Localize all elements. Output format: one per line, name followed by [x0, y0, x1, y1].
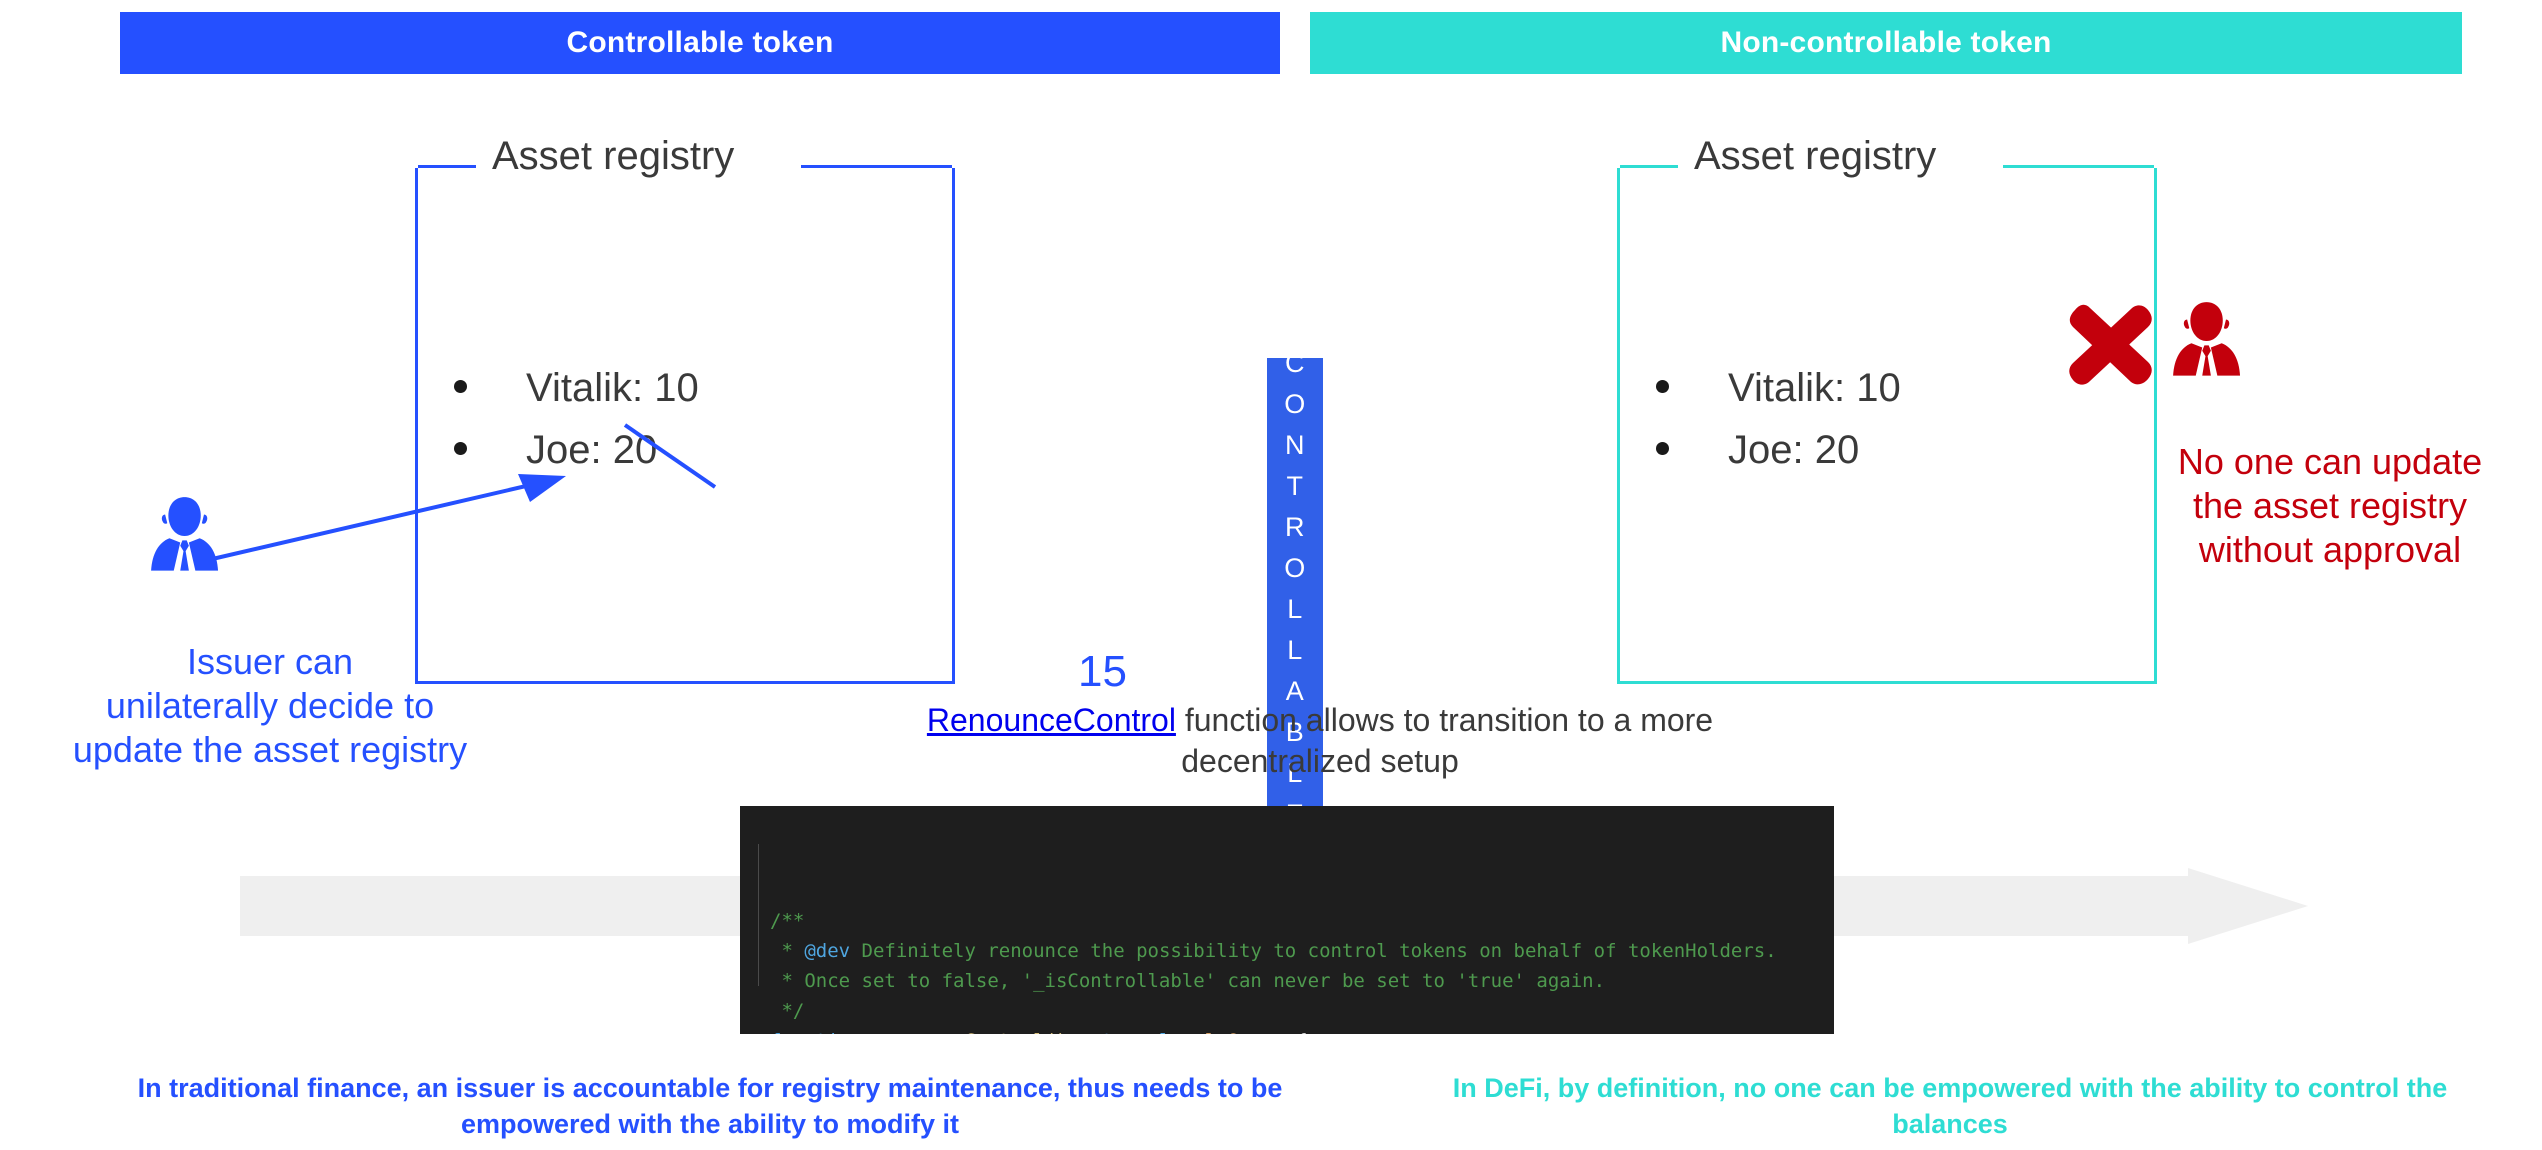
balance-entry-joe: Joe: 20	[1728, 428, 1859, 472]
controllable-letter: N	[1285, 425, 1305, 466]
balance-entry-vitalik: Vitalik: 10	[1728, 366, 1901, 410]
asset-registry-controllable: Asset registry Vitalik: 10 Joe: 20 15 C …	[415, 168, 955, 684]
bullet-icon	[1656, 380, 1669, 393]
code-token	[1067, 1030, 1078, 1034]
asset-registry-non-controllable: Asset registry Vitalik: 10 Joe: 20	[1617, 168, 2157, 684]
controllable-letter: L	[1287, 589, 1303, 630]
rail-segment-left	[1620, 165, 1678, 168]
controllable-letter: L	[1287, 630, 1303, 671]
code-token: function	[770, 1030, 873, 1034]
no-update-note: No one can update the asset registry wit…	[2130, 440, 2530, 572]
code-token: {	[1285, 1030, 1308, 1034]
renounce-control-code-snippet: /** * @dev Definitely renounce the possi…	[740, 806, 1834, 1034]
code-token: /**	[770, 910, 804, 932]
list-item: Vitalik: 10	[1648, 368, 1901, 408]
code-token	[1170, 1030, 1181, 1034]
registry-legend-left: Asset registry	[492, 136, 734, 176]
code-line: * Once set to false, '_isControllable' c…	[758, 966, 1834, 996]
banner-controllable-label: Controllable token	[567, 26, 834, 60]
code-token: @dev	[804, 940, 850, 962]
footer-note-tradfi: In traditional finance, an issuer is acc…	[120, 1070, 1300, 1142]
code-line: function renounceControl() external only…	[758, 1026, 1834, 1034]
rail-segment-right	[801, 165, 952, 168]
issuer-person-icon	[151, 497, 218, 570]
code-token: *	[770, 940, 804, 962]
controllable-letter: T	[1287, 466, 1304, 507]
blocked-person-icon	[2173, 302, 2240, 375]
list-item: Joe: 20	[1648, 430, 1901, 470]
code-line: /**	[758, 906, 1834, 936]
issuer-capability-note: Issuer can unilaterally decide to update…	[10, 640, 530, 772]
banner-controllable-token: Controllable token	[120, 12, 1280, 74]
code-token: * Once set to false, '_isControllable' c…	[770, 970, 1605, 992]
code-token: Definitely renounce the possibility to c…	[850, 940, 1777, 962]
bullet-icon	[454, 442, 467, 455]
code-line: * @dev Definitely renounce the possibili…	[758, 936, 1834, 966]
registry-legend-right: Asset registry	[1694, 136, 1936, 176]
code-token: renounceControl()	[873, 1030, 1067, 1034]
code-token: */	[770, 1000, 804, 1022]
banner-non-controllable-token: Non-controllable token	[1310, 12, 2462, 74]
bullet-icon	[1656, 442, 1669, 455]
code-token: onlyOwner	[1182, 1030, 1285, 1034]
rail-segment-left	[418, 165, 476, 168]
balance-entry-joe: Joe: 20	[526, 428, 657, 472]
code-token: external	[1079, 1030, 1171, 1034]
balance-list-right: Vitalik: 10 Joe: 20	[1648, 368, 1901, 492]
bullet-icon	[454, 380, 467, 393]
controllable-letter: O	[1284, 384, 1306, 425]
banner-non-controllable-label: Non-controllable token	[1720, 26, 2051, 60]
balance-entry-vitalik: Vitalik: 10	[526, 366, 699, 410]
list-item: Joe: 20	[446, 430, 699, 470]
renounce-control-caption: RenounceControl function allows to trans…	[880, 700, 1760, 782]
controllable-letter: C	[1285, 343, 1305, 384]
code-line: */	[758, 996, 1834, 1026]
controllable-letter: R	[1285, 507, 1305, 548]
slide-canvas: Controllable token Non-controllable toke…	[0, 0, 2542, 1150]
rail-segment-right	[2003, 165, 2154, 168]
renounce-control-link[interactable]: RenounceControl	[927, 702, 1176, 738]
list-item: Vitalik: 10	[446, 368, 699, 408]
controllable-letter: O	[1284, 548, 1306, 589]
balance-list-left: Vitalik: 10 Joe: 20	[446, 368, 699, 492]
renounce-control-caption-rest: function allows to transition to a more …	[1176, 702, 1713, 779]
updated-balance-value: 15	[1078, 650, 1127, 694]
code-lines: /** * @dev Definitely renounce the possi…	[758, 906, 1834, 1034]
footer-note-defi: In DeFi, by definition, no one can be em…	[1400, 1070, 2500, 1142]
